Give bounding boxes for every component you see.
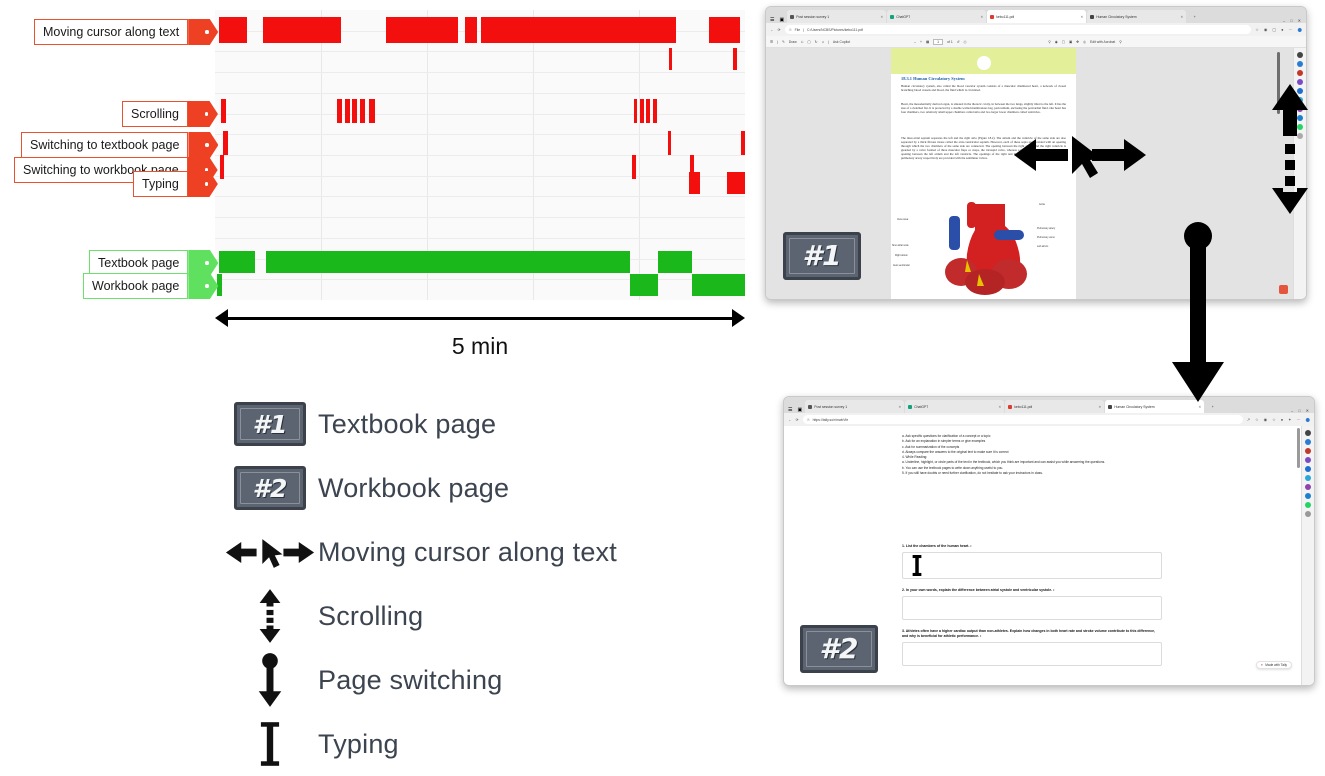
close-button[interactable]: ✕ bbox=[1298, 18, 1301, 23]
rail-games-icon-2[interactable] bbox=[1305, 484, 1311, 490]
grid-line-horizontal bbox=[215, 176, 745, 177]
rail-drop-icon-2[interactable] bbox=[1305, 475, 1311, 481]
tab-close-icon[interactable]: ✕ bbox=[898, 405, 901, 409]
scale-arrow-right-icon bbox=[732, 309, 745, 327]
timeline-row-tag-label: Switching to textbook page bbox=[21, 132, 188, 158]
acrobat-badge-icon bbox=[1279, 285, 1288, 294]
fit-page-icon[interactable]: ▦ bbox=[926, 40, 929, 44]
reload-button-2[interactable]: ⟳ bbox=[796, 418, 799, 422]
tab-favicon-icon bbox=[808, 405, 812, 409]
tab-close-icon[interactable]: ✕ bbox=[1080, 15, 1083, 19]
timeline-bar-segment bbox=[658, 251, 692, 273]
window-controls-1[interactable]: – □ ✕ bbox=[1283, 18, 1304, 23]
form-question-text: 1. List the chambers of the human heart.… bbox=[902, 544, 1162, 549]
scale-line bbox=[225, 317, 735, 320]
timeline-bar-segment bbox=[345, 99, 349, 123]
timeline-row-tag-pointer-icon bbox=[188, 19, 218, 45]
cursor-move-annotation-1 bbox=[1010, 130, 1150, 180]
edit-with-acrobat-label[interactable]: Edit with Acrobat bbox=[1090, 40, 1115, 44]
favorite-icon-2[interactable]: ☆ bbox=[1255, 417, 1259, 422]
timeline-bar-segment bbox=[630, 274, 658, 296]
legend-label: Scrolling bbox=[318, 601, 423, 632]
tab-copilot-icon-2[interactable]: ▣ bbox=[795, 407, 804, 413]
pdf-clock-icon[interactable]: ◉ bbox=[1055, 40, 1058, 44]
acrobat-search-icon[interactable]: ⚲ bbox=[1119, 40, 1121, 44]
monitor-badge-2: #2 bbox=[222, 466, 318, 510]
monitor-badge-1: #1 bbox=[222, 402, 318, 446]
reload-button[interactable]: ⟳ bbox=[778, 28, 781, 32]
tab-favicon-icon bbox=[790, 15, 794, 19]
pdf-read-aloud-icon[interactable]: ♫ bbox=[821, 40, 824, 44]
browser-tab[interactable]: kebo111.pdf✕ bbox=[987, 10, 1086, 23]
figure-label-vena-cava: Vena cava bbox=[897, 218, 908, 221]
questions-list: 1. List the chambers of the human heart.… bbox=[902, 544, 1162, 675]
timeline-bar-segment bbox=[263, 17, 341, 43]
tab-copilot-icon[interactable]: ▣ bbox=[777, 17, 786, 23]
browser-tab[interactable]: Human Circulatory System✕ bbox=[1087, 10, 1186, 23]
back-button[interactable]: ← bbox=[770, 28, 774, 32]
screenshot-2-badge: #2 bbox=[800, 625, 878, 673]
grid-line-horizontal bbox=[215, 114, 745, 115]
grid-line-horizontal bbox=[215, 93, 745, 94]
instructions-list: a. Ask specific questions for clarificat… bbox=[902, 434, 1162, 476]
timeline-row-tag-pointer-icon bbox=[188, 273, 218, 299]
timeline-row-tag[interactable]: Workbook page bbox=[83, 273, 218, 299]
pdf-layout-icon[interactable]: ▢ bbox=[1062, 40, 1065, 44]
ask-copilot-label[interactable]: Ask Copilot bbox=[833, 40, 850, 44]
form-question: 1. List the chambers of the human heart.… bbox=[902, 544, 1162, 579]
browser-tab[interactable]: Post session survey 1✕ bbox=[805, 400, 904, 413]
rail-search-icon-2[interactable] bbox=[1305, 430, 1311, 436]
instruction-line: 5. If you still have doubts or need furt… bbox=[902, 471, 1162, 476]
timeline-bar-segment bbox=[337, 99, 341, 123]
instruction-line: a. Underline, highlight, or circle parts… bbox=[902, 460, 1162, 465]
browser-tab[interactable]: kebo111.pdf✕ bbox=[1005, 400, 1104, 413]
favorites-bar-icon-2[interactable]: ☆ bbox=[1272, 417, 1276, 422]
legend-label: Page switching bbox=[318, 665, 502, 696]
tab-close-icon[interactable]: ✕ bbox=[998, 405, 1001, 409]
legend-row: Scrolling bbox=[222, 584, 742, 648]
figure-label-pulmonary-veins: Pulmonary veins bbox=[1037, 236, 1055, 239]
tab-favicon-icon bbox=[1090, 15, 1094, 19]
copilot-icon-2[interactable]: ⬤ bbox=[1306, 417, 1310, 422]
rail-whatsapp-icon-2[interactable] bbox=[1305, 502, 1311, 508]
pdf-highlight-icon[interactable]: ✎ bbox=[782, 40, 785, 44]
url-prefix: File bbox=[795, 28, 800, 32]
rail-copilot-icon[interactable] bbox=[1297, 61, 1303, 67]
horizontal-double-arrow-cursor-icon bbox=[222, 536, 318, 569]
timeline-bar-segment bbox=[689, 172, 700, 194]
vertical-dotted-double-arrow-icon bbox=[222, 587, 318, 645]
zoom-out-button[interactable]: – bbox=[914, 40, 916, 44]
page-total-label: of 1 bbox=[947, 40, 953, 44]
timeline-bar-segment bbox=[220, 155, 224, 179]
legend-label: Workbook page bbox=[318, 473, 509, 504]
rail-search-icon[interactable] bbox=[1297, 52, 1303, 58]
tab-title: kebo111.pdf bbox=[1014, 405, 1032, 409]
timeline-row-tag-label: Scrolling bbox=[122, 101, 188, 127]
pdf-comment-icon[interactable]: ▢ bbox=[807, 40, 810, 44]
instruction-line: b. Ask for an explanation in simpler ter… bbox=[902, 439, 1162, 444]
pdf-fullscreen-icon[interactable]: ✥ bbox=[1076, 40, 1079, 44]
figure-label-auto-ventricular: Auto-ventricular bbox=[893, 264, 910, 267]
rail-tools-icon-2[interactable] bbox=[1305, 457, 1311, 463]
window-controls-2[interactable]: – □ ✕ bbox=[1291, 408, 1312, 413]
instruction-line: d. Always compare the answers to the ori… bbox=[902, 450, 1162, 455]
monitor-badge-label: #1 bbox=[253, 412, 288, 437]
legend-label: Textbook page bbox=[318, 409, 496, 440]
tab-title: Post session survey 1 bbox=[814, 405, 847, 409]
rail-outlook-icon-2[interactable] bbox=[1305, 493, 1311, 499]
maximize-button[interactable]: □ bbox=[1290, 18, 1292, 23]
collections-icon[interactable]: ◉ bbox=[1264, 27, 1268, 32]
timeline-bar-segment bbox=[465, 17, 477, 43]
minimize-button[interactable]: – bbox=[1283, 18, 1285, 23]
pdf-share-icon[interactable]: ◎ bbox=[1083, 40, 1086, 44]
timeline-bar-segment bbox=[640, 99, 644, 123]
monitor-badge-label: #2 bbox=[253, 476, 288, 501]
page-number-field[interactable]: 1 bbox=[933, 39, 943, 45]
monitor-icon: #2 bbox=[234, 466, 306, 510]
made-with-tally-badge[interactable]: ✷ Made with Tally bbox=[1256, 661, 1292, 669]
address-bar-1[interactable]: ← ⟳ ☉ File | C:/Users/NCBS/Pictures/kebo… bbox=[766, 23, 1306, 36]
figure-label-right-atrium: Right atrium bbox=[895, 254, 908, 257]
new-tab-button[interactable]: + bbox=[1187, 10, 1202, 23]
tab-title: ChatGPT bbox=[914, 405, 928, 409]
timeline-bar-segment bbox=[219, 251, 255, 273]
form-answer-input[interactable] bbox=[902, 552, 1162, 579]
tab-title: kebo111.pdf bbox=[996, 15, 1014, 19]
rail-shopping-icon-2[interactable] bbox=[1305, 448, 1311, 454]
tab-search-icon[interactable]: ☰ bbox=[768, 17, 776, 23]
timeline-bar-segment bbox=[709, 17, 740, 43]
tab-close-icon[interactable]: ✕ bbox=[880, 15, 883, 19]
address-bar-2[interactable]: ← ⟳ ☉ https://tally.so/r/mwkVfe ↗ ☆ ◉ ☆ … bbox=[784, 413, 1314, 426]
figure-label-sino-atrial-node: Sino atrial node bbox=[892, 244, 909, 247]
legend-row: #2Workbook page bbox=[222, 456, 742, 520]
tab-close-icon[interactable]: ✕ bbox=[1198, 405, 1201, 409]
timeline-bar-segment bbox=[692, 274, 745, 296]
lock-icon: ☉ bbox=[807, 418, 810, 422]
grid-line-horizontal bbox=[215, 51, 745, 52]
timeline-bar-segment bbox=[632, 155, 636, 179]
rail-shopping-icon[interactable] bbox=[1297, 70, 1303, 76]
pdf-draw-label[interactable]: Draw bbox=[789, 40, 797, 44]
text-caret-icon bbox=[907, 555, 927, 576]
figure-label-pulmonary-artery: Pulmonary artery bbox=[1037, 227, 1055, 230]
profile-icon[interactable]: ● bbox=[1281, 27, 1283, 32]
pdf-search-icon[interactable]: ⚲ bbox=[1048, 40, 1050, 44]
form-answer-input[interactable] bbox=[902, 596, 1162, 620]
tab-title: ChatGPT bbox=[896, 15, 910, 19]
tab-title: Human Circulatory System bbox=[1114, 405, 1154, 409]
pdf-page-marker bbox=[977, 56, 991, 70]
maximize-button-2[interactable]: □ bbox=[1298, 408, 1300, 413]
doc-paragraph-2: Heart, the mesodermally derived organ, i… bbox=[901, 102, 1066, 114]
timeline-row-tag-pointer-icon bbox=[188, 132, 218, 158]
pdf-toolbar-1[interactable]: ☰ | ✎ Draw ⎌ ▢ ↻ ♫ | Ask Copilot – + ▦ 1… bbox=[766, 36, 1306, 48]
rail-settings-icon-2[interactable] bbox=[1305, 511, 1311, 517]
timeline-bar-segment bbox=[727, 172, 745, 194]
timeline-bar-segment bbox=[369, 99, 375, 123]
rail-browser-essentials-icon-2[interactable] bbox=[1305, 466, 1311, 472]
url-field-2[interactable]: ☉ https://tally.so/r/mwkVfe bbox=[803, 415, 1243, 424]
timeline-row-tag-pointer-icon bbox=[188, 171, 218, 197]
tab-title: Post session survey 1 bbox=[796, 15, 829, 19]
timeline-bar-segment bbox=[352, 99, 356, 123]
figure-label-left-atrium: Left atrium bbox=[1037, 245, 1048, 248]
timeline-row-tag-label: Workbook page bbox=[83, 273, 188, 299]
timeline-bar-segment bbox=[669, 48, 673, 70]
legend-label: Moving cursor along text bbox=[318, 537, 617, 568]
legend-row: #1Textbook page bbox=[222, 392, 742, 456]
instruction-line: c. Ask for summarization of the concepts bbox=[902, 445, 1162, 450]
heart-diagram bbox=[909, 200, 1059, 296]
timeline-bar-segment bbox=[634, 99, 638, 123]
form-answer-input[interactable] bbox=[902, 642, 1162, 666]
legend: #1Textbook page#2Workbook pageMoving cur… bbox=[222, 392, 742, 776]
tab-favicon-icon bbox=[1008, 405, 1012, 409]
grid-line-horizontal bbox=[215, 155, 745, 156]
timeline-bar-segment bbox=[360, 99, 365, 123]
tab-close-icon[interactable]: ✕ bbox=[980, 15, 983, 19]
tab-favicon-icon bbox=[1108, 405, 1112, 409]
timeline-bar-segment bbox=[481, 17, 676, 43]
tab-strip-2: ☰ ▣ Post session survey 1✕ChatGPT✕kebo11… bbox=[784, 397, 1314, 413]
browser-tab[interactable]: ChatGPT✕ bbox=[887, 10, 986, 23]
settings-ellipsis-icon[interactable]: ⋯ bbox=[1289, 27, 1293, 32]
tab-favicon-icon bbox=[908, 405, 912, 409]
instruction-line: a. Ask specific questions for clarificat… bbox=[902, 434, 1162, 439]
url-field-1[interactable]: ☉ File | C:/Users/NCBS/Pictures/kebo111.… bbox=[785, 25, 1252, 34]
timeline-bar-segment bbox=[219, 17, 247, 43]
settings-ellipsis-icon-2[interactable]: ⋯ bbox=[1297, 417, 1301, 422]
form-question: 2. In your own words, explain the differ… bbox=[902, 588, 1162, 620]
doc-paragraph-1: Human circulatory system, also called th… bbox=[901, 84, 1066, 92]
legend-row: Page switching bbox=[222, 648, 742, 712]
timeline-row-tag-pointer-icon bbox=[188, 101, 218, 127]
pdf-erase-icon[interactable]: ⎌ bbox=[801, 40, 804, 44]
grid-line-horizontal bbox=[215, 238, 745, 239]
doc-heading: 18.3.1 Human Circulatory System bbox=[901, 76, 965, 81]
tab-title: Human Circulatory System bbox=[1096, 15, 1136, 19]
figure-label-aorta: Aorta bbox=[1039, 203, 1045, 206]
legend-label: Typing bbox=[318, 729, 399, 760]
browser-tab[interactable]: Post session survey 1✕ bbox=[787, 10, 886, 23]
timeline-bar-segment bbox=[741, 131, 745, 155]
profile-icon-2[interactable]: ● bbox=[1281, 417, 1283, 422]
pdf-rotate-icon[interactable]: ↻ bbox=[815, 40, 818, 44]
duration-scale-arrow bbox=[215, 305, 745, 331]
scroll-annotation-1 bbox=[1272, 84, 1308, 214]
favorite-icon[interactable]: ☆ bbox=[1255, 27, 1259, 32]
minimize-button-2[interactable]: – bbox=[1291, 408, 1293, 413]
form-question-text: 2. In your own words, explain the differ… bbox=[902, 588, 1162, 593]
grid-line-horizontal bbox=[215, 134, 745, 135]
extensions-icon-2[interactable]: ✦ bbox=[1288, 417, 1291, 422]
back-button-2[interactable]: ← bbox=[788, 418, 792, 422]
pdf-save-icon[interactable]: ▣ bbox=[1069, 40, 1072, 44]
duration-label: 5 min bbox=[215, 333, 745, 360]
scale-arrow-left-icon bbox=[215, 309, 228, 327]
url-text-2: https://tally.so/r/mwkVfe bbox=[813, 418, 849, 422]
page-switching-connector-arrow bbox=[1172, 222, 1224, 402]
timeline-row-tag[interactable]: Typing bbox=[133, 171, 218, 197]
edge-sidebar-rail-2[interactable] bbox=[1301, 426, 1314, 685]
screenshot-1-badge: #1 bbox=[783, 232, 861, 280]
instruction-line: b. You can use the textbook pages to wri… bbox=[902, 466, 1162, 471]
tally-badge-label: Made with Tally bbox=[1265, 663, 1287, 667]
url-text: C:/Users/NCBS/Pictures/kebo111.pdf bbox=[807, 28, 863, 32]
form-question: 3. Athletes often have a higher cardiac … bbox=[902, 629, 1162, 666]
grid-line-horizontal bbox=[215, 72, 745, 73]
timeline-row-tag[interactable]: Moving cursor along text bbox=[34, 19, 218, 45]
grid-line-horizontal bbox=[215, 196, 745, 197]
split-screen-icon[interactable]: ▢ bbox=[1272, 27, 1276, 32]
tab-close-icon[interactable]: ✕ bbox=[1098, 405, 1101, 409]
timeline-bar-segment bbox=[386, 17, 458, 43]
timeline-row-tag-label: Typing bbox=[133, 171, 188, 197]
tab-favicon-icon bbox=[890, 15, 894, 19]
zoom-in-button[interactable]: + bbox=[920, 40, 922, 44]
timeline-row-tag[interactable]: Scrolling bbox=[122, 101, 218, 127]
activity-timeline-panel: Moving cursor along textScrollingSwitchi… bbox=[0, 0, 760, 380]
rotate-page-icon[interactable]: ↺ bbox=[957, 40, 960, 44]
timeline-bar-segment bbox=[646, 99, 650, 123]
timeline-bar-segment bbox=[733, 48, 736, 70]
legend-row: Typing bbox=[222, 712, 742, 776]
grid-line-horizontal bbox=[215, 279, 745, 280]
tally-star-icon: ✷ bbox=[1261, 663, 1264, 667]
monitor-icon: #1 bbox=[234, 402, 306, 446]
vertical-arrow-dot-icon bbox=[222, 651, 318, 709]
timeline-bar-segment bbox=[653, 99, 657, 123]
timeline-row-tag[interactable]: Switching to textbook page bbox=[21, 132, 218, 158]
split-screen-icon-2[interactable]: ↗ bbox=[1247, 417, 1250, 422]
tab-favicon-icon bbox=[990, 15, 994, 19]
print-icon[interactable]: ⎙ bbox=[964, 40, 967, 44]
close-button-2[interactable]: ✕ bbox=[1306, 408, 1309, 413]
timeline-bar-segment bbox=[668, 131, 672, 155]
instruction-line: 4. While Reading: bbox=[902, 455, 1162, 460]
pdf-sidebar-icon[interactable]: ☰ bbox=[770, 40, 773, 44]
timeline-bar-segment bbox=[221, 99, 225, 123]
tab-strip-1: ☰ ▣ Post session survey 1✕ChatGPT✕kebo11… bbox=[766, 7, 1306, 23]
timeline-bar-segment bbox=[266, 251, 630, 273]
collections-icon-2[interactable]: ◉ bbox=[1264, 417, 1268, 422]
address-bar-actions-1[interactable]: ☆ ◉ ▢ ● ⋯ ⬤ bbox=[1255, 27, 1302, 32]
form-scrollbar-thumb[interactable] bbox=[1297, 428, 1300, 468]
browser-tab[interactable]: ChatGPT✕ bbox=[905, 400, 1004, 413]
legend-row: Moving cursor along text bbox=[222, 520, 742, 584]
tab-close-icon[interactable]: ✕ bbox=[1180, 15, 1183, 19]
form-question-text: 3. Athletes often have a higher cardiac … bbox=[902, 629, 1162, 639]
timeline-row-tag-label: Moving cursor along text bbox=[34, 19, 188, 45]
tab-search-icon-2[interactable]: ☰ bbox=[786, 407, 794, 413]
copilot-icon[interactable]: ⬤ bbox=[1298, 27, 1302, 32]
text-caret-icon bbox=[222, 722, 318, 766]
rail-copilot-icon-2[interactable] bbox=[1305, 439, 1311, 445]
file-icon: ☉ bbox=[789, 28, 792, 32]
grid-line-horizontal bbox=[215, 217, 745, 218]
timeline-bar-segment bbox=[223, 131, 227, 155]
address-bar-actions-2[interactable]: ↗ ☆ ◉ ☆ ● ✦ ⋯ ⬤ bbox=[1247, 417, 1310, 422]
